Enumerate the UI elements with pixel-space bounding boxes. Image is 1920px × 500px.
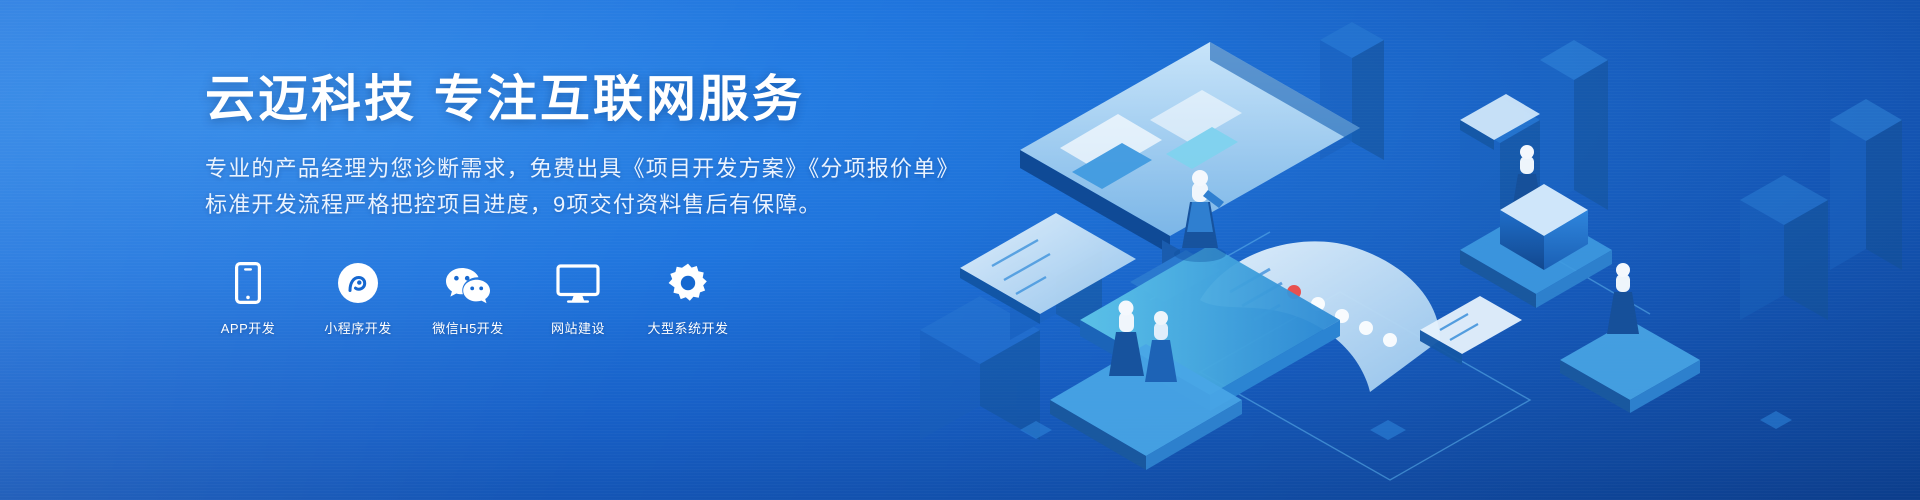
wechat-icon (444, 260, 492, 304)
banner-subtitle: 专业的产品经理为您诊断需求，免费出具《项目开发方案》《分项报价单》 标准开发流程… (205, 151, 960, 222)
subtitle-line-1: 专业的产品经理为您诊断需求，免费出具《项目开发方案》《分项报价单》 (205, 151, 960, 187)
monitor-icon (556, 260, 600, 304)
service-label: 微信H5开发 (432, 318, 504, 337)
hero-banner: 云迈科技 专注互联网服务 专业的产品经理为您诊断需求，免费出具《项目开发方案》《… (0, 0, 1920, 500)
service-item-wechat-h5[interactable]: 微信H5开发 (425, 260, 511, 337)
service-label: 小程序开发 (324, 318, 392, 337)
gear-icon (667, 260, 709, 304)
subtitle-line-2: 标准开发流程严格把控项目进度，9项交付资料售后有保障。 (205, 187, 960, 223)
banner-copy: 云迈科技 专注互联网服务 专业的产品经理为您诊断需求，免费出具《项目开发方案》《… (205, 70, 960, 337)
service-label: APP开发 (221, 318, 276, 337)
service-item-mini-program[interactable]: 小程序开发 (315, 260, 401, 337)
service-item-large-system[interactable]: 大型系统开发 (645, 260, 731, 337)
mobile-phone-icon (235, 260, 261, 304)
service-label: 网站建设 (551, 318, 605, 337)
service-list: APP开发 小程序开发 (205, 260, 960, 337)
mini-program-icon (337, 260, 379, 304)
service-item-website[interactable]: 网站建设 (535, 260, 621, 337)
isometric-team-dashboard-illustration (900, 0, 1920, 500)
service-label: 大型系统开发 (647, 318, 728, 337)
service-item-app[interactable]: APP开发 (205, 260, 291, 337)
page-title: 云迈科技 专注互联网服务 (205, 70, 960, 129)
